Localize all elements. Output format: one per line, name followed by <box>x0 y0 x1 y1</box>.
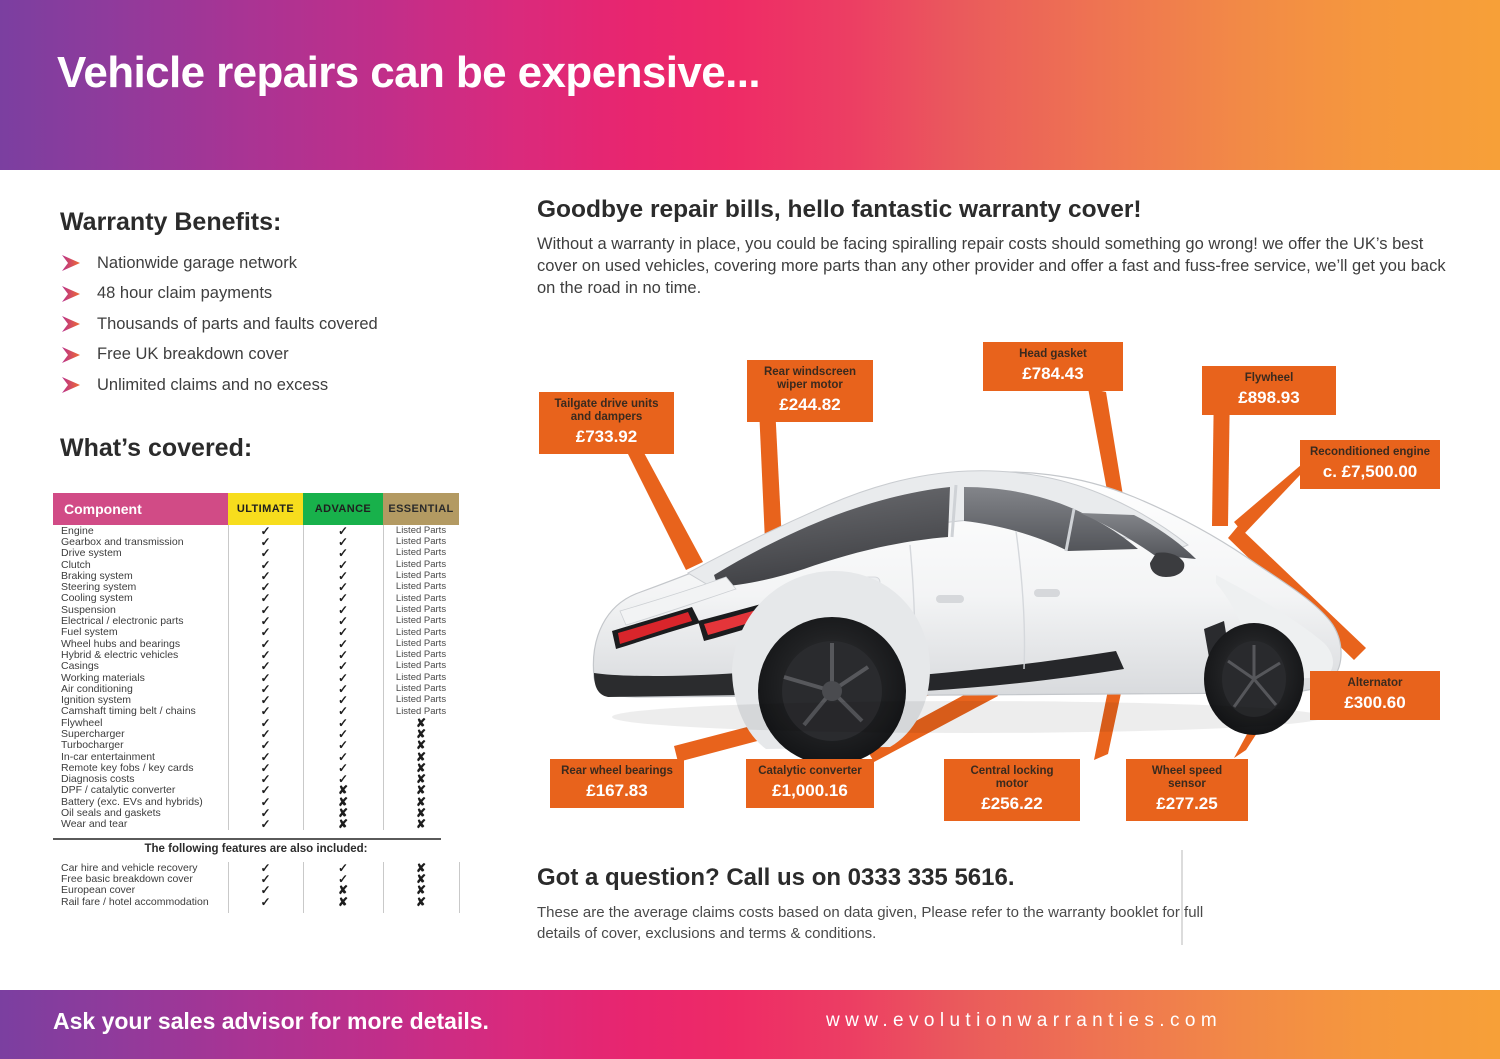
table-cell-component: Drive system <box>53 547 228 559</box>
table-body: Engine✓✓Listed PartsGearbox and transmis… <box>53 525 459 830</box>
table-cell-component: Air conditioning <box>53 683 228 695</box>
footer-message: Ask your sales advisor for more details. <box>53 1008 489 1035</box>
column-header-advance: ADVANCE <box>303 493 383 525</box>
table-row: Fuel system✓✓Listed Parts <box>53 627 459 638</box>
table-column-divider <box>303 525 304 830</box>
callout-central-locking-motor[interactable]: Central locking motor £256.22 <box>944 759 1080 821</box>
table-cell-mark: Listed Parts <box>383 650 459 660</box>
table-row: Oil seals and gaskets✓✘✘ <box>53 807 459 818</box>
table-row: Wear and tear✓✘✘ <box>53 819 459 830</box>
table-cell-component: Hybrid & electric vehicles <box>53 649 228 661</box>
table-row: Turbocharger✓✓✘ <box>53 740 459 751</box>
table-row: Hybrid & electric vehicles✓✓Listed Parts <box>53 649 459 660</box>
table-row: Remote key fobs / key cards✓✓✘ <box>53 762 459 773</box>
car-parts-cost-diagram: Tailgate drive units and dampers £733.92… <box>528 330 1478 850</box>
table-row: European cover✓✘✘ <box>53 885 459 896</box>
table-column-divider <box>459 862 460 913</box>
callout-rear-windscreen-wiper-motor[interactable]: Rear windscreen wiper motor £244.82 <box>747 360 873 422</box>
callout-label: Central locking motor <box>953 765 1071 791</box>
table-cell-mark: Listed Parts <box>383 639 459 649</box>
callout-catalytic-converter[interactable]: Catalytic converter £1,000.16 <box>746 759 874 808</box>
table-column-divider <box>228 525 229 830</box>
list-item: Thousands of parts and faults covered <box>60 309 490 340</box>
table-row: Wheel hubs and bearings✓✓Listed Parts <box>53 638 459 649</box>
table-column-divider <box>383 525 384 830</box>
table-cell-component: DPF / catalytic converter <box>53 784 228 796</box>
chevron-right-icon <box>60 254 90 272</box>
table-cell-component: Working materials <box>53 672 228 684</box>
vertical-divider <box>1181 850 1183 945</box>
table-cell-component: Diagnosis costs <box>53 773 228 785</box>
table-cell-component: Supercharger <box>53 728 228 740</box>
section-heading: Goodbye repair bills, hello fantastic wa… <box>537 196 1142 224</box>
callout-label: Catalytic converter <box>755 765 865 778</box>
callout-wheel-speed-sensor[interactable]: Wheel speed sensor £277.25 <box>1126 759 1248 821</box>
callout-head-gasket[interactable]: Head gasket £784.43 <box>983 342 1123 391</box>
callout-label: Head gasket <box>992 348 1114 361</box>
column-header-essential: ESSENTIAL <box>383 493 459 525</box>
table-cell-component: Ignition system <box>53 694 228 706</box>
table-row: Braking system✓✓Listed Parts <box>53 570 459 581</box>
list-item-label: Free UK breakdown cover <box>97 345 289 364</box>
table-row: Casings✓✓Listed Parts <box>53 661 459 672</box>
list-item-label: Thousands of parts and faults covered <box>97 315 378 334</box>
list-item: Nationwide garage network <box>60 248 490 279</box>
table-row: Cooling system✓✓Listed Parts <box>53 593 459 604</box>
table-cell-component: European cover <box>53 884 228 896</box>
table-cell-mark: Listed Parts <box>383 537 459 547</box>
table-cell-mark: Listed Parts <box>383 605 459 615</box>
table-row: Suspension✓✓Listed Parts <box>53 604 459 615</box>
table-row: Rail fare / hotel accommodation✓✘✘ <box>53 896 459 907</box>
callout-label: Alternator <box>1319 677 1431 690</box>
table-cell-component: Car hire and vehicle recovery <box>53 862 228 874</box>
table-row: Air conditioning✓✓Listed Parts <box>53 683 459 694</box>
extra-features-table: Car hire and vehicle recovery✓✓✘Free bas… <box>53 862 459 907</box>
table-row: Electrical / electronic parts✓✓Listed Pa… <box>53 615 459 626</box>
table-cell-mark: ✘ <box>383 818 459 830</box>
callout-value: £898.93 <box>1211 388 1327 407</box>
list-item: 48 hour claim payments <box>60 279 490 310</box>
callout-value: £784.43 <box>992 364 1114 383</box>
table-cell-component: Engine <box>53 525 228 537</box>
table-cell-mark: Listed Parts <box>383 673 459 683</box>
table-cell-component: Camshaft timing belt / chains <box>53 705 228 717</box>
callout-value: c. £7,500.00 <box>1309 462 1431 481</box>
table-cell-component: Free basic breakdown cover <box>53 873 228 885</box>
table-row: In-car entertainment✓✓✘ <box>53 751 459 762</box>
callout-label: Rear wheel bearings <box>559 765 675 778</box>
table-cell-mark: Listed Parts <box>383 616 459 626</box>
callout-label: Reconditioned engine <box>1309 446 1431 459</box>
table-row: Supercharger✓✓✘ <box>53 728 459 739</box>
table-cell-component: Wheel hubs and bearings <box>53 638 228 650</box>
coverage-table: Component ULTIMATE ADVANCE ESSENTIAL Eng… <box>53 493 459 830</box>
table-cell-component: Remote key fobs / key cards <box>53 762 228 774</box>
list-item-label: 48 hour claim payments <box>97 284 272 303</box>
warranty-benefits-list: Nationwide garage network 48 hour claim … <box>60 248 490 401</box>
table-row: Diagnosis costs✓✓✘ <box>53 774 459 785</box>
table-cell-mark: Listed Parts <box>383 548 459 558</box>
table-row: Gearbox and transmission✓✓Listed Parts <box>53 536 459 547</box>
table-cell-component: Cooling system <box>53 592 228 604</box>
table-row: Drive system✓✓Listed Parts <box>53 548 459 559</box>
table-cell-mark: ✘ <box>303 818 383 830</box>
callout-alternator[interactable]: Alternator £300.60 <box>1310 671 1440 720</box>
table-cell-mark: ✘ <box>303 896 383 908</box>
footer-website-url[interactable]: www.evolutionwarranties.com <box>826 1010 1222 1032</box>
table-cell-component: Rail fare / hotel accommodation <box>53 896 228 908</box>
table-row: Car hire and vehicle recovery✓✓✘ <box>53 862 459 873</box>
callout-value: £244.82 <box>756 395 864 414</box>
chevron-right-icon <box>60 346 90 364</box>
table-column-divider <box>383 862 384 913</box>
table-cell-mark: Listed Parts <box>383 571 459 581</box>
list-item: Free UK breakdown cover <box>60 340 490 371</box>
table-cell-mark: Listed Parts <box>383 684 459 694</box>
column-header-ultimate: ULTIMATE <box>228 493 303 525</box>
chevron-right-icon <box>60 376 90 394</box>
callout-value: £256.22 <box>953 794 1071 813</box>
table-row: Working materials✓✓Listed Parts <box>53 672 459 683</box>
table-row: Clutch✓✓Listed Parts <box>53 559 459 570</box>
callout-label: Flywheel <box>1211 372 1327 385</box>
table-cell-mark: Listed Parts <box>383 594 459 604</box>
table-cell-mark: Listed Parts <box>383 628 459 638</box>
table-cell-component: Wear and tear <box>53 818 228 830</box>
chevron-right-icon <box>60 315 90 333</box>
table-cell-component: Braking system <box>53 570 228 582</box>
whats-covered-heading: What’s covered: <box>60 434 252 463</box>
callout-rear-wheel-bearings[interactable]: Rear wheel bearings £167.83 <box>550 759 684 808</box>
callout-value: £277.25 <box>1135 794 1239 813</box>
table-cell-mark: ✓ <box>228 818 303 830</box>
table-cell-component: Clutch <box>53 559 228 571</box>
list-item-label: Unlimited claims and no excess <box>97 376 328 395</box>
callout-label: Rear windscreen wiper motor <box>756 366 864 392</box>
table-cell-mark: ✓ <box>228 896 303 908</box>
table-row: Camshaft timing belt / chains✓✓Listed Pa… <box>53 706 459 717</box>
page-title: Vehicle repairs can be expensive... <box>57 48 760 98</box>
table-cell-component: Flywheel <box>53 717 228 729</box>
table-row: Flywheel✓✓✘ <box>53 717 459 728</box>
table-cell-component: Casings <box>53 660 228 672</box>
list-item-label: Nationwide garage network <box>97 254 297 273</box>
table-cell-mark: Listed Parts <box>383 707 459 717</box>
table-row: DPF / catalytic converter✓✘✘ <box>53 785 459 796</box>
car-image <box>568 425 1358 785</box>
extra-features-heading: The following features are also included… <box>53 843 459 855</box>
table-cell-component: Suspension <box>53 604 228 616</box>
callout-reconditioned-engine[interactable]: Reconditioned engine c. £7,500.00 <box>1300 440 1440 489</box>
callout-value: £1,000.16 <box>755 781 865 800</box>
table-row: Engine✓✓Listed Parts <box>53 525 459 536</box>
callout-tailgate-drive-units[interactable]: Tailgate drive units and dampers £733.92 <box>539 392 674 454</box>
table-cell-mark: Listed Parts <box>383 560 459 570</box>
section-paragraph: Without a warranty in place, you could b… <box>537 234 1457 300</box>
table-cell-mark: ✘ <box>383 896 459 908</box>
warranty-benefits-heading: Warranty Benefits: <box>60 208 281 237</box>
table-cell-component: Battery (exc. EVs and hybrids) <box>53 796 228 808</box>
table-cell-component: In-car entertainment <box>53 751 228 763</box>
table-row: Free basic breakdown cover✓✓✘ <box>53 873 459 884</box>
table-column-divider <box>303 862 304 913</box>
table-row: Ignition system✓✓Listed Parts <box>53 694 459 705</box>
table-cell-mark: Listed Parts <box>383 695 459 705</box>
table-row: Steering system✓✓Listed Parts <box>53 581 459 592</box>
table-cell-component: Fuel system <box>53 626 228 638</box>
table-cell-component: Electrical / electronic parts <box>53 615 228 627</box>
callout-value: £167.83 <box>559 781 675 800</box>
table-cell-component: Oil seals and gaskets <box>53 807 228 819</box>
table-cell-component: Gearbox and transmission <box>53 536 228 548</box>
table-header-row: Component ULTIMATE ADVANCE ESSENTIAL <box>53 493 459 525</box>
column-header-component: Component <box>53 493 228 525</box>
callout-flywheel[interactable]: Flywheel £898.93 <box>1202 366 1336 415</box>
table-cell-component: Steering system <box>53 581 228 593</box>
cta-disclaimer: These are the average claims costs based… <box>537 903 1237 944</box>
chevron-right-icon <box>60 285 90 303</box>
table-row: Battery (exc. EVs and hybrids)✓✘✘ <box>53 796 459 807</box>
list-item: Unlimited claims and no excess <box>60 370 490 401</box>
callout-value: £300.60 <box>1319 693 1431 712</box>
table-cell-mark: Listed Parts <box>383 582 459 592</box>
cta-heading: Got a question? Call us on 0333 335 5616… <box>537 864 1015 892</box>
table-column-divider <box>228 862 229 913</box>
table-divider-rule <box>53 838 441 840</box>
table-cell-mark: Listed Parts <box>383 526 459 536</box>
table-cell-component: Turbocharger <box>53 739 228 751</box>
callout-label: Wheel speed sensor <box>1135 765 1239 791</box>
callout-label: Tailgate drive units and dampers <box>548 398 665 424</box>
callout-value: £733.92 <box>548 427 665 446</box>
table-cell-mark: Listed Parts <box>383 661 459 671</box>
